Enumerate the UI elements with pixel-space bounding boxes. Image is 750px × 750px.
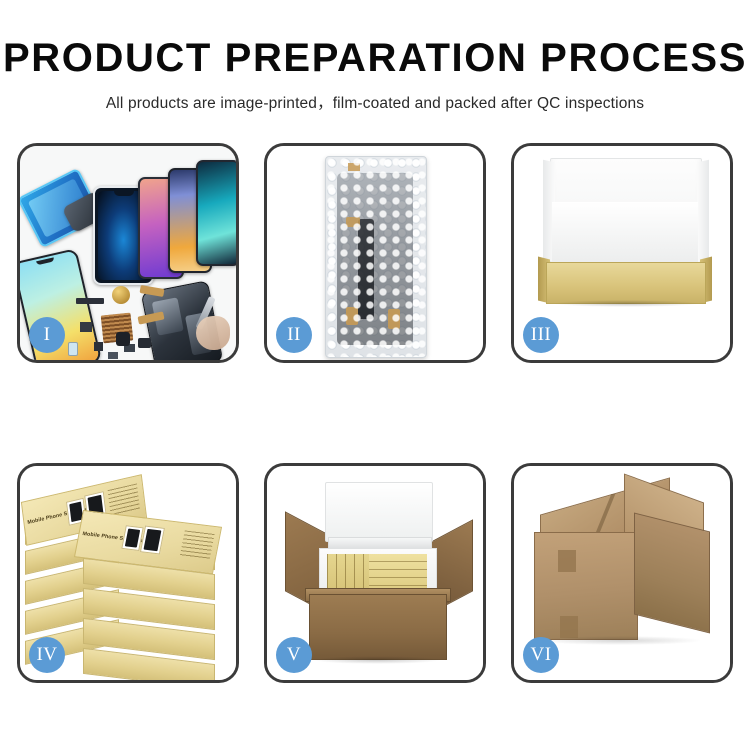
step-card-4: Mobile Phone Spare Parts Mobile Phone Sp… xyxy=(17,463,239,683)
drop-shadow xyxy=(313,656,441,664)
bubble-wrap-pouch xyxy=(325,156,427,358)
technician-hand xyxy=(196,316,230,350)
step-badge-4: IV xyxy=(29,637,65,673)
step-badge-1: I xyxy=(29,317,65,353)
drop-shadow xyxy=(552,300,700,307)
adhesive-tape xyxy=(346,217,360,227)
box-spec-lines xyxy=(108,483,140,516)
page-subtitle: All products are image-printed，film-coat… xyxy=(0,91,750,113)
carton-body xyxy=(309,594,447,660)
kraft-box-front-panel xyxy=(546,262,706,304)
carton-side-face xyxy=(634,513,710,634)
page-title: PRODUCT PREPARATION PROCESS xyxy=(0,38,750,78)
connector-tab xyxy=(346,307,358,325)
foam-box-lid xyxy=(325,482,433,542)
step-card-3: III xyxy=(511,143,733,363)
packing-tape xyxy=(560,616,578,638)
steps-grid: I II xyxy=(17,143,733,688)
wrapped-flex-cable xyxy=(358,219,374,319)
box-spec-lines xyxy=(180,530,215,559)
step-badge-2: II xyxy=(276,317,312,353)
step-badge-5: V xyxy=(276,637,312,673)
product-preparation-infographic: PRODUCT PREPARATION PROCESS All products… xyxy=(0,0,750,750)
speaker-coil-icon xyxy=(112,286,130,304)
header: PRODUCT PREPARATION PROCESS All products… xyxy=(0,0,750,113)
step-card-6: VI xyxy=(511,463,733,683)
step-card-1: I xyxy=(17,143,239,363)
step-badge-3: III xyxy=(523,317,559,353)
component-chip-icon xyxy=(94,342,103,351)
connector-tab xyxy=(388,309,400,329)
adhesive-tape xyxy=(348,163,360,171)
step-badge-6: VI xyxy=(523,637,559,673)
sim-tray-icon xyxy=(68,342,78,356)
vibration-motor-icon xyxy=(108,352,118,359)
component-chip-icon xyxy=(80,322,92,332)
camera-module-icon xyxy=(116,332,130,346)
packing-tape xyxy=(558,550,576,572)
component-chip-icon xyxy=(138,338,151,348)
drop-shadow xyxy=(540,636,700,645)
carton-front-face xyxy=(534,532,638,640)
box-window-right xyxy=(140,526,165,555)
step-card-2: II xyxy=(264,143,486,363)
earpiece-icon xyxy=(76,298,104,304)
step-card-5: V xyxy=(264,463,486,683)
foam-sheet xyxy=(552,202,698,264)
teal-gradient-phone xyxy=(196,160,236,266)
